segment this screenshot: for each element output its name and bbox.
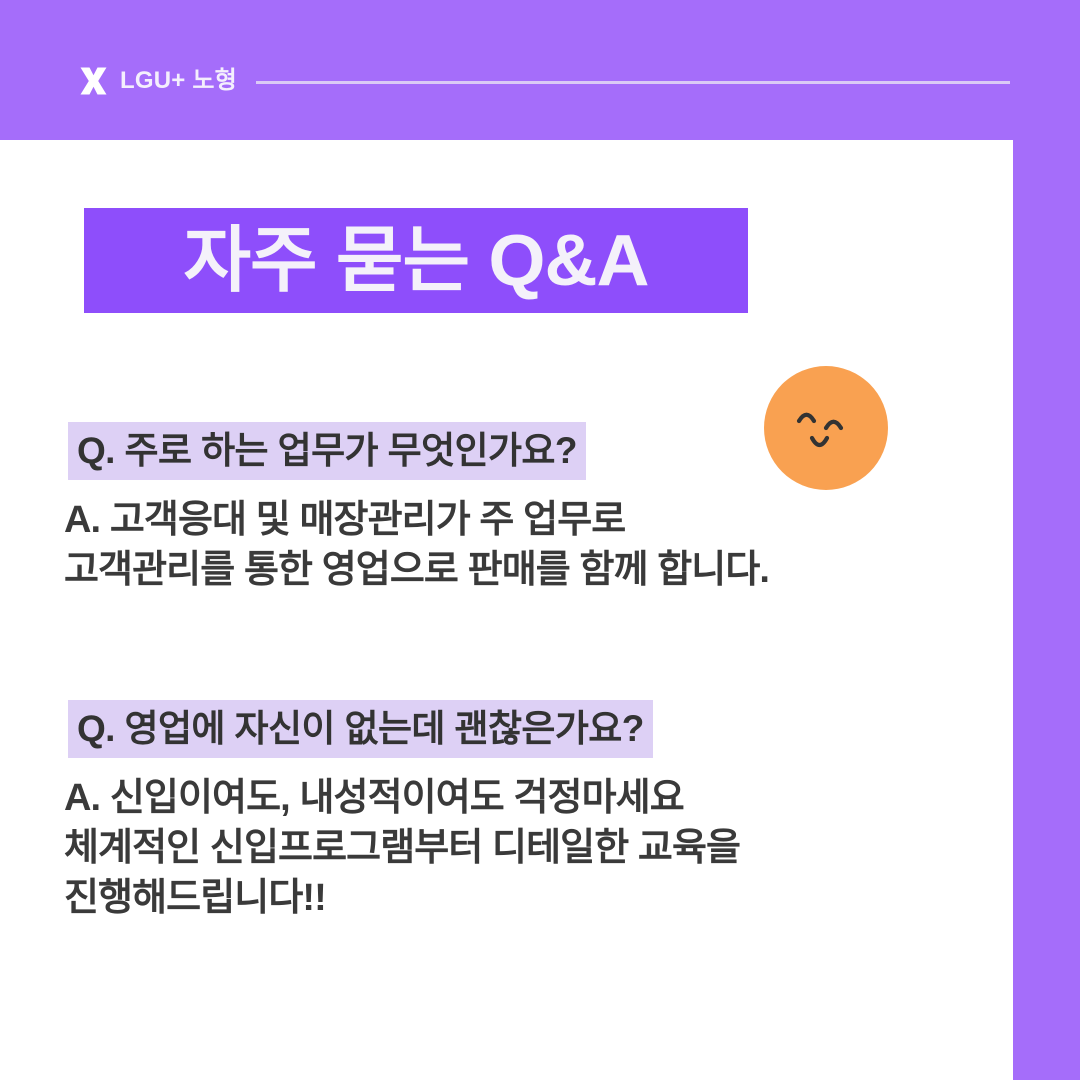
brand-lockup: LGU+ 노형 [80, 62, 237, 100]
answer-text: A. 고객응대 및 매장관리가 주 업무로 고객관리를 통한 영업으로 판매를 … [64, 496, 1013, 596]
page-header: LGU+ 노형 [0, 0, 1080, 140]
header-divider [256, 81, 1010, 84]
question-text: Q. 주로 하는 업무가 무엇인가요? [68, 422, 586, 480]
page-title: 자주 묻는 Q&A [183, 225, 648, 297]
answer-line: 진행해드립니다!! [64, 874, 1013, 924]
question-text: Q. 영업에 자신이 없는데 괜찮은가요? [68, 700, 653, 758]
content-card: 자주 묻는 Q&A Q. 주로 하는 업무가 무엇인가요? A. 고객응대 및 … [0, 140, 1013, 1080]
answer-line: A. 고객응대 및 매장관리가 주 업무로 [64, 496, 1013, 546]
qa-poster: LGU+ 노형 자주 묻는 Q&A Q. 주로 하는 업무가 무엇인가요? A.… [0, 0, 1080, 1080]
answer-line: A. 신입이여도, 내성적이여도 걱정마세요 [64, 774, 1013, 824]
answer-text: A. 신입이여도, 내성적이여도 걱정마세요 체계적인 신입프로그램부터 디테일… [64, 774, 1013, 923]
page-title-banner: 자주 묻는 Q&A [84, 208, 748, 313]
lguplus-x-mark-icon [80, 67, 107, 95]
answer-line: 체계적인 신입프로그램부터 디테일한 교육을 [64, 824, 1013, 874]
answer-line: 고객관리를 통한 영업으로 판매를 함께 합니다. [64, 546, 1013, 596]
qa-item: Q. 주로 하는 업무가 무엇인가요? A. 고객응대 및 매장관리가 주 업무… [0, 422, 1013, 596]
qa-item: Q. 영업에 자신이 없는데 괜찮은가요? A. 신입이여도, 내성적이여도 걱… [0, 700, 1013, 923]
brand-name-label: LGU+ 노형 [120, 69, 237, 93]
